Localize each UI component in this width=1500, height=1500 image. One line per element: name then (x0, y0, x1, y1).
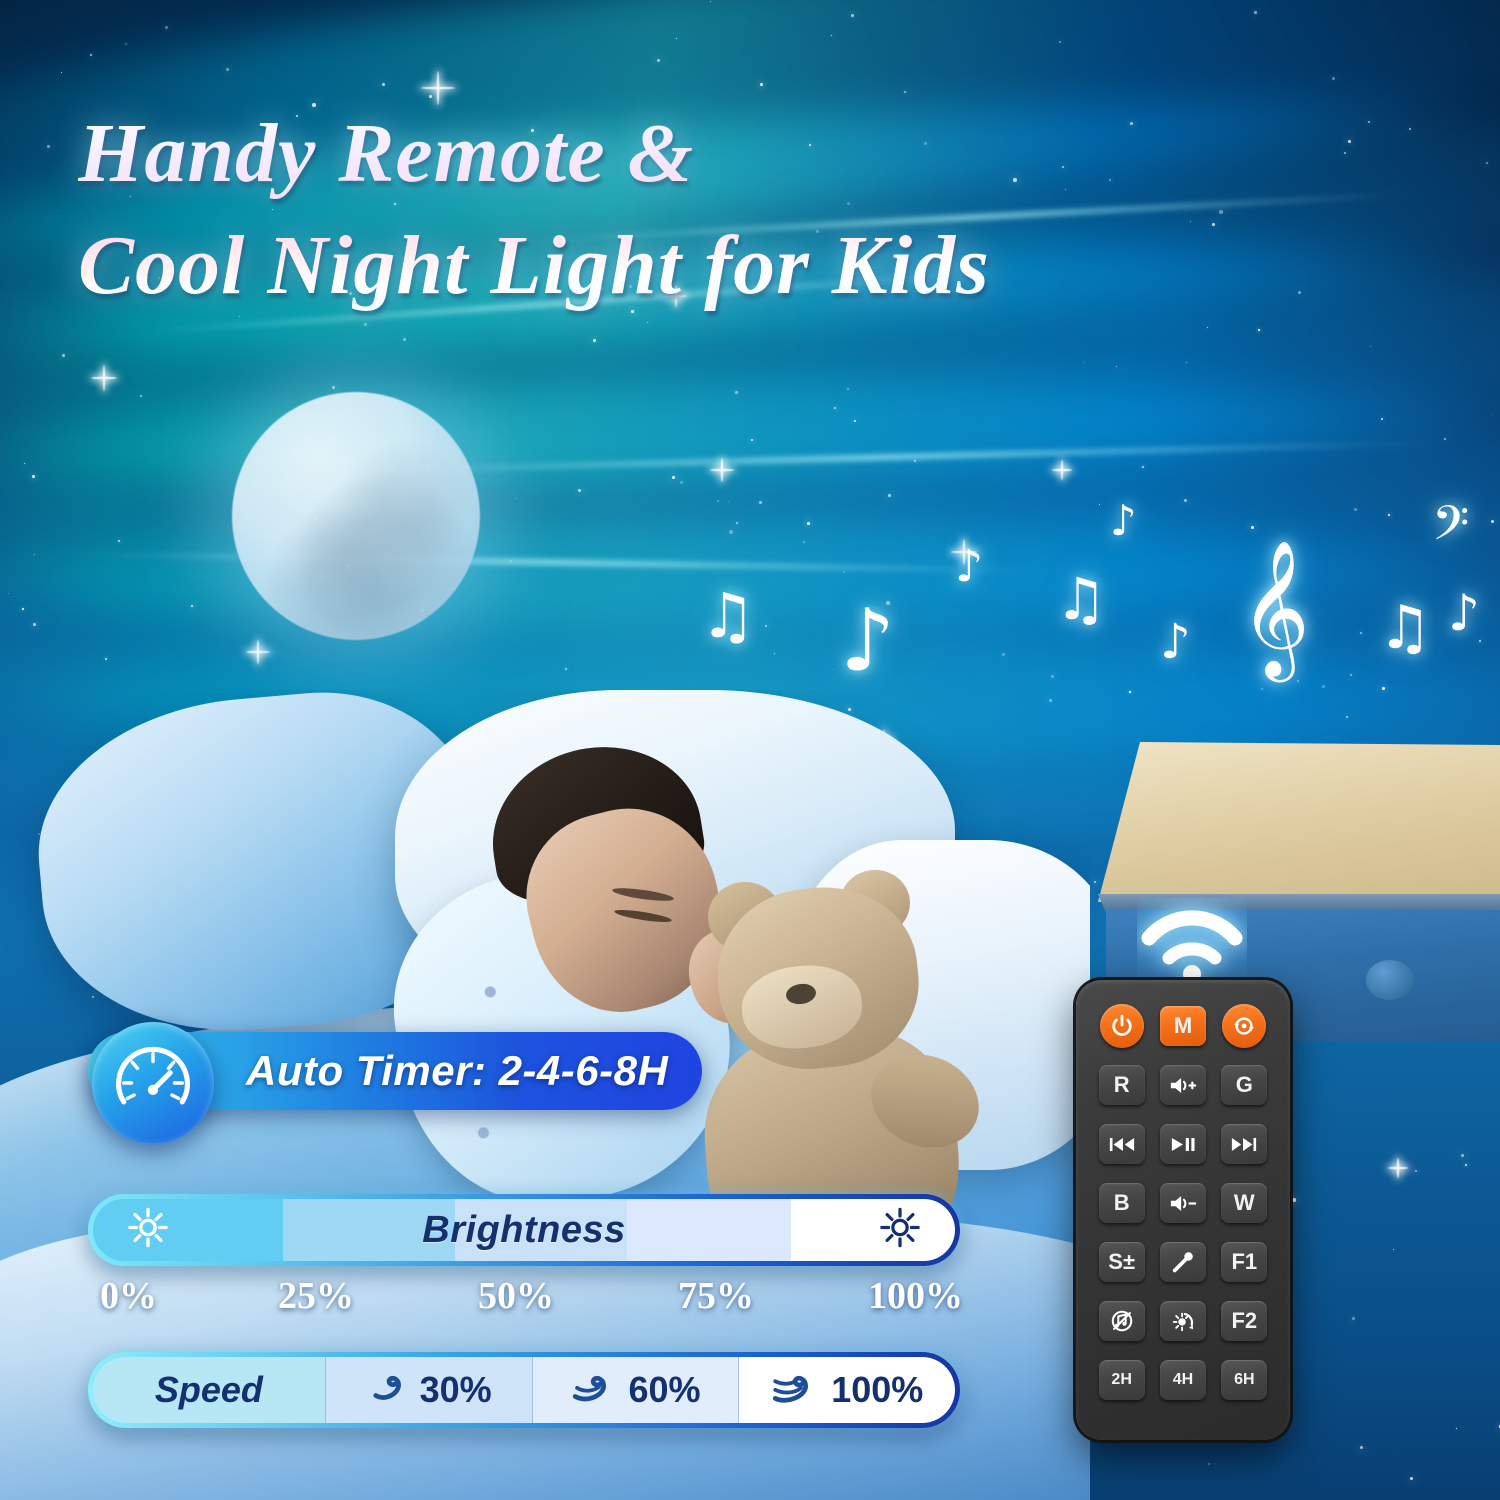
sun-icon (879, 1207, 921, 1254)
speed-bar[interactable]: Speed 30% 60% (88, 1352, 960, 1428)
speed-value-30: 30% (420, 1369, 492, 1411)
brightness-scale: 0% 25% 50% 75% 100% (88, 1274, 968, 1320)
play-pause-button[interactable] (1160, 1124, 1206, 1164)
speed-track[interactable]: Speed 30% 60% (93, 1357, 955, 1423)
music-note-icon: ♫ (700, 585, 756, 647)
brightness-tick: 25% (278, 1274, 354, 1318)
music-note-icon: ♪ (840, 598, 895, 684)
timer-4h-button[interactable]: 4H (1160, 1360, 1206, 1400)
brightness-tick: 75% (678, 1274, 754, 1318)
music-note-icon: ♪ (1160, 618, 1191, 666)
auto-timer-label: Auto Timer: 2-4-6-8H (246, 1047, 668, 1095)
wave-small-icon (366, 1367, 416, 1414)
speed-step-100[interactable]: 100% (739, 1357, 955, 1423)
green-button[interactable]: G (1221, 1065, 1267, 1105)
music-note-icon: ♪ (1448, 588, 1480, 638)
brightness-label: Brightness (93, 1199, 955, 1261)
wave-large-icon (771, 1367, 827, 1414)
mode-button[interactable]: M (1160, 1006, 1206, 1046)
page-title: Handy Remote & Cool Night Light for Kids (78, 98, 1078, 321)
speed-value-60: 60% (629, 1369, 701, 1411)
blue-button[interactable]: B (1099, 1183, 1145, 1223)
brightness-tick: 0% (100, 1274, 157, 1318)
wifi-signal-icon (1137, 898, 1247, 984)
timer-2h-button[interactable]: 2H (1099, 1360, 1145, 1400)
remote-control[interactable]: M R G B WS± (1076, 980, 1290, 1440)
treble-clef-icon: 𝄞 (1240, 548, 1310, 666)
speed-label-segment: Speed (93, 1357, 326, 1423)
moon (232, 392, 480, 640)
brightness-tick: 50% (478, 1274, 554, 1318)
aurora-streak (60, 551, 1060, 573)
volume-down-button[interactable] (1160, 1183, 1206, 1223)
remote-button-grid[interactable]: M R G B WS± (1096, 998, 1270, 1422)
next-button[interactable] (1221, 1124, 1267, 1164)
speed-label: Speed (155, 1369, 263, 1411)
volume-up-button[interactable] (1160, 1065, 1206, 1105)
wave-medium-icon (571, 1367, 625, 1414)
rotate-button[interactable] (1222, 1004, 1266, 1048)
music-note-icon: ♫ (1055, 570, 1107, 628)
bass-clef-icon: 𝄢 (1432, 500, 1469, 558)
brightness-bar[interactable]: Brightness (88, 1194, 960, 1266)
brightness-button[interactable] (1160, 1301, 1206, 1341)
mute-music-button[interactable] (1099, 1301, 1145, 1341)
brightness-track[interactable]: Brightness (93, 1199, 955, 1261)
aurora-band (0, 364, 1500, 646)
power-button[interactable] (1100, 1004, 1144, 1048)
speed-adjust-button[interactable]: S± (1099, 1242, 1145, 1282)
microphone-button[interactable] (1160, 1242, 1206, 1282)
sun-icon (127, 1207, 169, 1254)
music-note-icon: ♪ (1110, 500, 1137, 542)
nightstand-knob (1366, 960, 1414, 1000)
white-button[interactable]: W (1221, 1183, 1267, 1223)
f2-button[interactable]: F2 (1221, 1301, 1267, 1341)
headline-line-2: Cool Night Light for Kids (78, 210, 1078, 322)
nightstand-top (1098, 742, 1500, 902)
speed-step-60[interactable]: 60% (533, 1357, 740, 1423)
product-marketing-image: Handy Remote & Cool Night Light for Kids… (0, 0, 1500, 1500)
f1-button[interactable]: F1 (1221, 1242, 1267, 1282)
aurora-streak (300, 440, 1450, 475)
previous-button[interactable] (1099, 1124, 1145, 1164)
speedometer-icon (92, 1022, 214, 1144)
timer-6h-button[interactable]: 6H (1221, 1360, 1267, 1400)
red-button[interactable]: R (1099, 1065, 1145, 1105)
headline-line-1: Handy Remote & (78, 107, 694, 200)
speed-step-30[interactable]: 30% (326, 1357, 533, 1423)
speed-value-100: 100% (831, 1369, 923, 1411)
music-note-icon: ♫ (1378, 598, 1432, 658)
brightness-tick: 100% (868, 1274, 963, 1318)
